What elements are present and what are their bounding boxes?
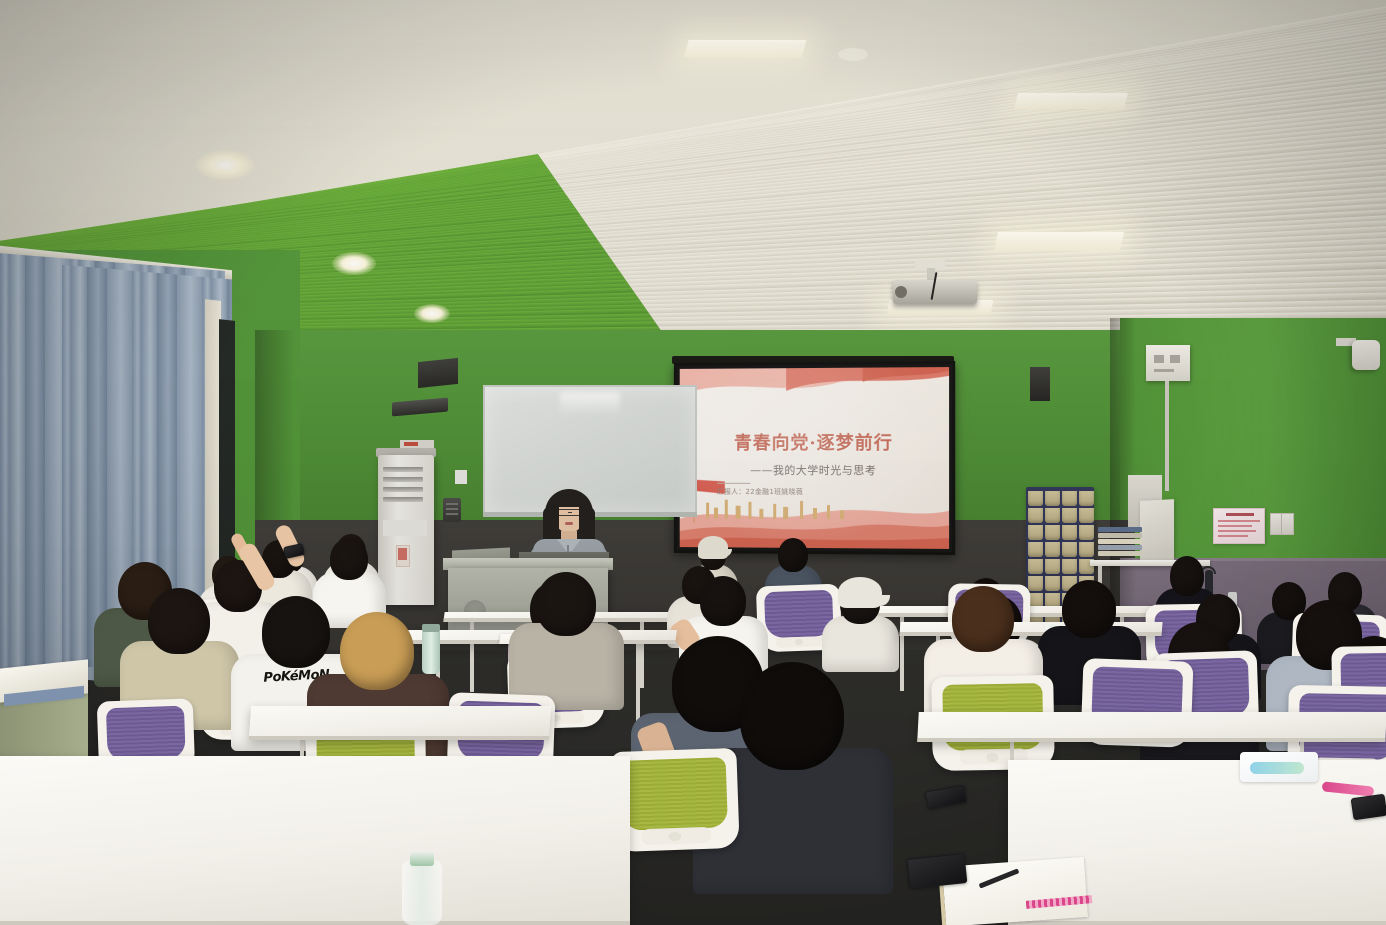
person-torso xyxy=(822,616,899,673)
table-edge xyxy=(0,921,630,925)
person-head xyxy=(1062,580,1116,638)
phone-screen xyxy=(926,786,966,808)
phone-on-desk-3[interactable] xyxy=(925,785,968,810)
person-head xyxy=(952,586,1014,652)
bottle-cap-green xyxy=(410,852,434,866)
table-front-right xyxy=(917,712,1386,742)
audience-and-furniture: PoKéMoN xyxy=(0,0,1386,925)
person-head xyxy=(778,538,808,572)
person-head xyxy=(340,612,414,690)
person-head xyxy=(148,588,210,654)
person-head xyxy=(330,538,368,580)
cap-brim xyxy=(865,595,890,606)
person-head xyxy=(1170,556,1204,596)
phone-on-desk-1[interactable] xyxy=(1351,794,1386,821)
thermos-bottle xyxy=(422,630,440,674)
phone-screen xyxy=(908,854,967,888)
chair-mesh-back xyxy=(106,705,187,761)
table-edge xyxy=(249,736,549,740)
phone-on-desk-2[interactable] xyxy=(907,853,968,889)
table-left-mid xyxy=(249,706,551,740)
classroom-scene: 青春向党·逐梦前行 ——我的大学时光与思考 汇报人：22金融1班姚晓薇 xyxy=(0,0,1386,925)
person-head xyxy=(740,662,844,770)
water-bottle-foreground xyxy=(402,860,442,925)
person-head xyxy=(700,576,746,626)
table-front-left xyxy=(0,756,630,925)
bottle-cap xyxy=(422,624,440,632)
person-head xyxy=(262,596,330,668)
chair-adjust-knob xyxy=(986,753,998,762)
table-edge xyxy=(917,738,1385,742)
table-edge xyxy=(1008,921,1386,925)
chair-mesh-back xyxy=(622,757,728,831)
person-head xyxy=(536,572,596,636)
phone-screen xyxy=(1352,795,1386,819)
tissue-pack-graphic xyxy=(1250,762,1304,774)
